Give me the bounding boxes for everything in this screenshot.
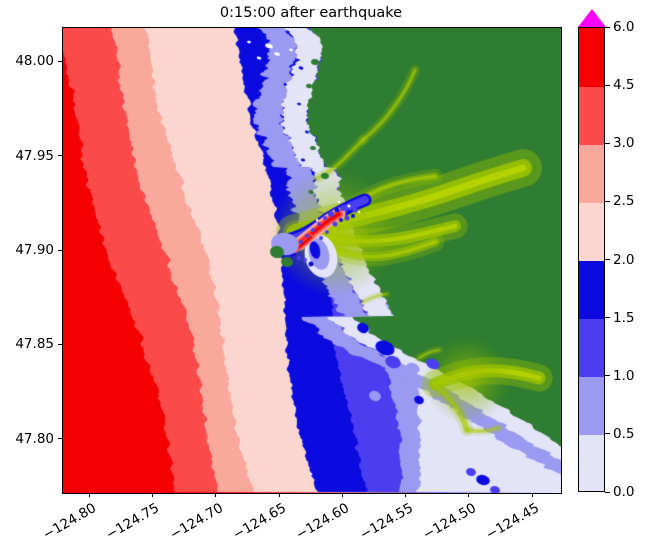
colorbar-segment <box>579 435 604 492</box>
x-tick-label: −124.60 <box>291 500 353 545</box>
colorbar-over-arrow-icon <box>578 9 606 27</box>
colorbar-tick-label: 0.0 <box>613 484 634 500</box>
y-tick-label: 47.85 <box>15 336 54 352</box>
colorbar-tick-label: 1.5 <box>613 310 634 326</box>
colorbar-tick-label: 3.0 <box>613 135 634 151</box>
colorbar-tick-label: 0.5 <box>613 426 634 442</box>
y-tick-label: 47.90 <box>15 242 54 258</box>
x-tick-mark <box>468 493 469 497</box>
x-tick-label: −124.65 <box>227 500 289 545</box>
y-tick-mark <box>58 61 62 62</box>
colorbar-segment <box>579 202 604 261</box>
y-tick-mark <box>58 344 62 345</box>
x-tick-mark <box>89 493 90 497</box>
colorbar-tick-mark <box>605 201 610 202</box>
x-tick-mark <box>215 493 216 497</box>
colorbar-tick-mark <box>605 433 610 434</box>
y-tick-label: 47.80 <box>15 431 54 447</box>
y-tick-mark <box>58 250 62 251</box>
colorbar-tick-label: 4.5 <box>613 77 634 93</box>
colorbar-tick-mark <box>605 27 610 28</box>
x-tick-mark <box>342 493 343 497</box>
x-tick-label: −124.80 <box>38 500 100 545</box>
tsunami-inundation-map[interactable] <box>63 28 561 493</box>
y-tick-mark <box>58 155 62 156</box>
map-axes[interactable] <box>62 27 562 494</box>
y-tick-label: 48.00 <box>15 53 54 69</box>
y-tick-mark <box>58 438 62 439</box>
colorbar-tick-label: 1.0 <box>613 368 634 384</box>
colorbar-tick-label: 2.5 <box>613 193 634 209</box>
colorbar-tick-mark <box>605 375 610 376</box>
x-tick-mark <box>279 493 280 497</box>
colorbar-segment <box>579 28 604 87</box>
colorbar-segment <box>579 261 604 320</box>
colorbar-tick-label: 2.0 <box>613 252 634 268</box>
colorbar-tick-mark <box>605 259 610 260</box>
colorbar-body <box>578 27 605 492</box>
colorbar-segment <box>579 144 604 203</box>
figure-canvas: 0:15:00 after earthquake 48.0047.9547.90… <box>0 0 651 541</box>
colorbar-tick-mark <box>605 492 610 493</box>
x-tick-label: −124.45 <box>480 500 542 545</box>
colorbar-segment <box>579 377 604 436</box>
x-tick-mark <box>532 493 533 497</box>
x-tick-mark <box>405 493 406 497</box>
colorbar-segment <box>579 319 604 378</box>
colorbar[interactable] <box>578 27 605 492</box>
colorbar-tick-label: 6.0 <box>613 19 634 35</box>
x-tick-label: −124.70 <box>164 500 226 545</box>
x-tick-mark <box>152 493 153 497</box>
colorbar-tick-mark <box>605 85 610 86</box>
page-title: 0:15:00 after earthquake <box>62 4 560 22</box>
x-tick-label: −124.75 <box>101 500 163 545</box>
x-tick-label: −124.55 <box>354 500 416 545</box>
colorbar-segment <box>579 86 604 145</box>
colorbar-tick-mark <box>605 143 610 144</box>
x-tick-label: −124.50 <box>417 500 479 545</box>
y-tick-label: 47.95 <box>15 148 54 164</box>
colorbar-tick-mark <box>605 317 610 318</box>
